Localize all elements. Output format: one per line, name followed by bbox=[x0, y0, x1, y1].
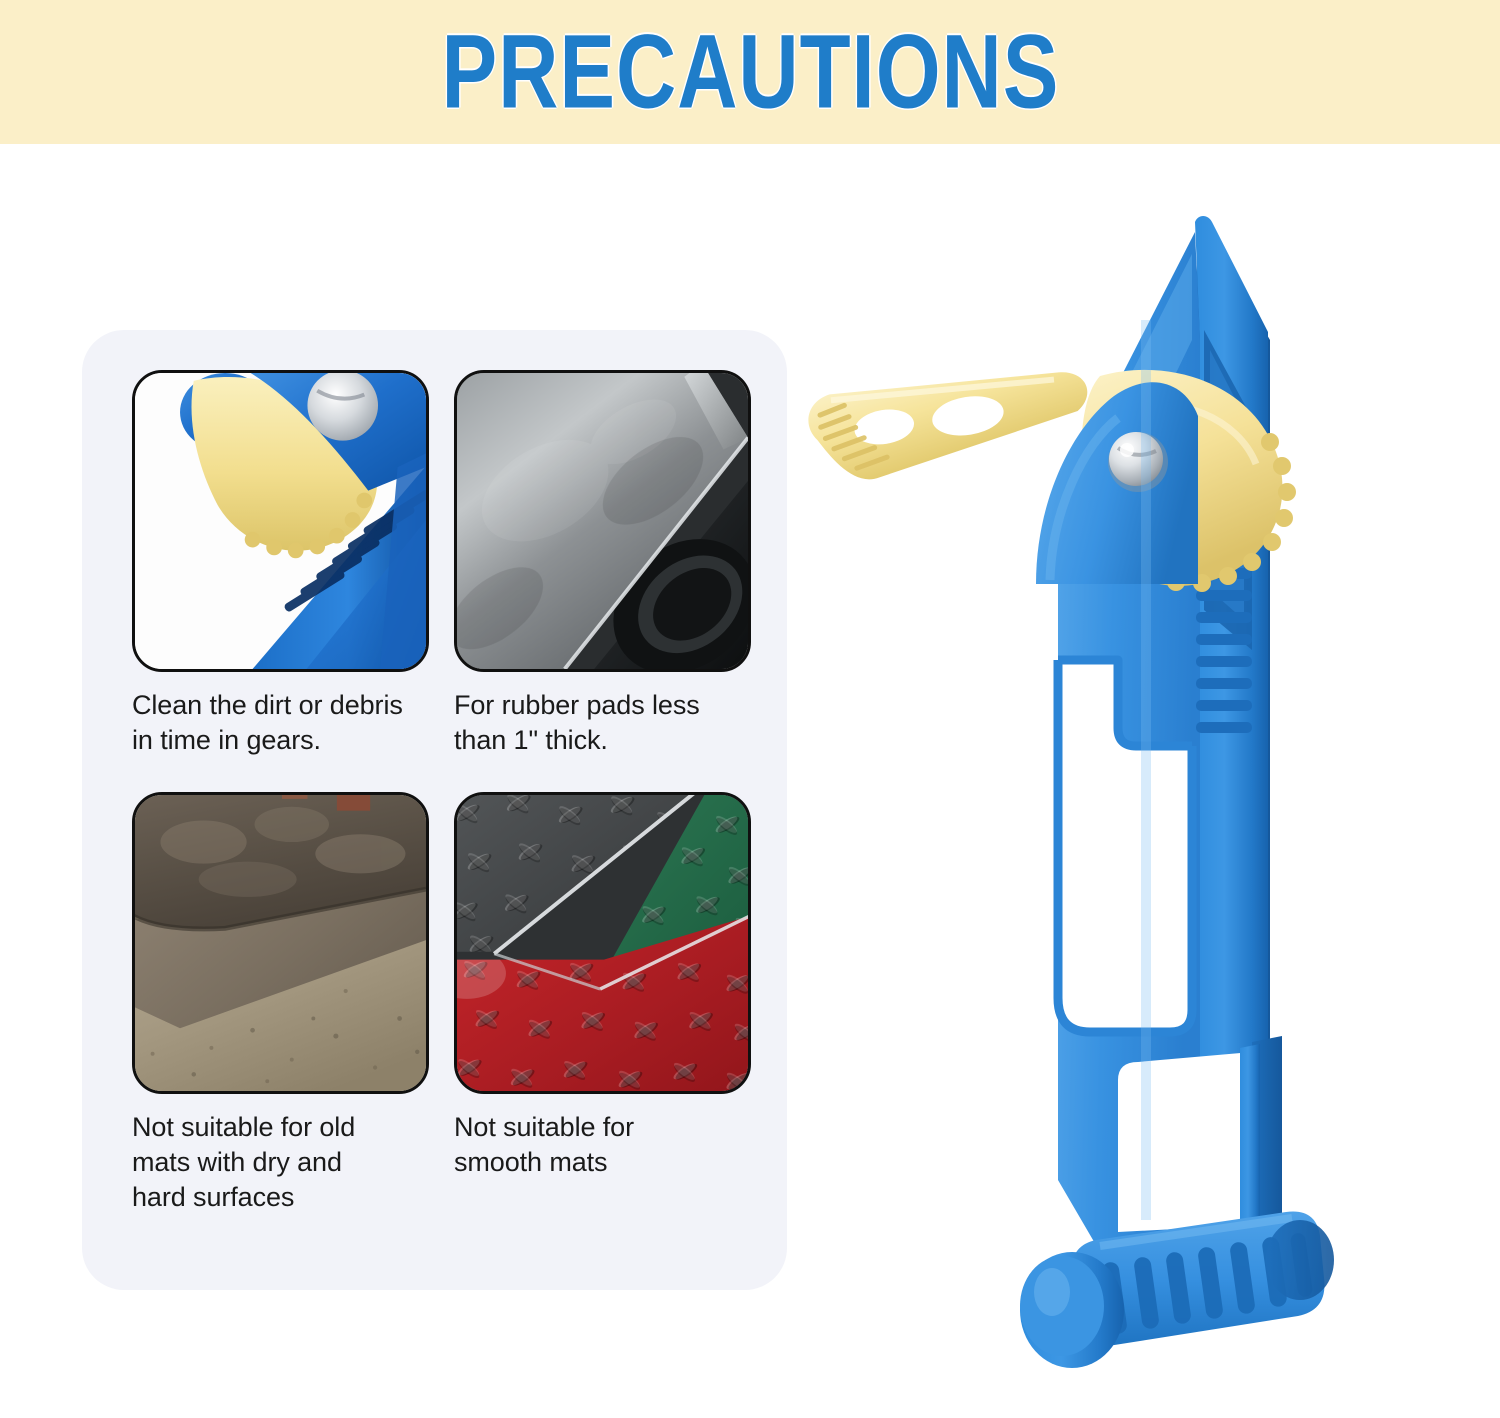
rubber-pad-roll-photo bbox=[454, 370, 751, 672]
precaution-row: Clean the dirt or debris in time in gear… bbox=[132, 370, 752, 758]
precaution-caption: For rubber pads less than 1" thick. bbox=[454, 688, 751, 758]
precaution-photo-grid: Clean the dirt or debris in time in gear… bbox=[132, 370, 752, 1215]
page-title: PRECAUTIONS bbox=[441, 20, 1059, 125]
precautions-card: Clean the dirt or debris in time in gear… bbox=[82, 330, 787, 1290]
mat-lifter-tool-image bbox=[800, 180, 1440, 1380]
smooth-diamond-mats-photo bbox=[454, 792, 751, 1094]
gear-closeup-photo bbox=[132, 370, 429, 672]
precaution-caption: Clean the dirt or debris in time in gear… bbox=[132, 688, 429, 758]
precaution-row: Not suitable for old mats with dry and h… bbox=[132, 792, 752, 1215]
precaution-caption: Not suitable for old mats with dry and h… bbox=[132, 1110, 429, 1215]
precaution-item: Not suitable for old mats with dry and h… bbox=[132, 792, 429, 1215]
precaution-item: Not suitable for smooth mats bbox=[454, 792, 751, 1215]
header-band: PRECAUTIONS bbox=[0, 0, 1500, 144]
precaution-item: Clean the dirt or debris in time in gear… bbox=[132, 370, 429, 758]
old-dry-mat-photo bbox=[132, 792, 429, 1094]
precaution-caption: Not suitable for smooth mats bbox=[454, 1110, 751, 1180]
precaution-item: For rubber pads less than 1" thick. bbox=[454, 370, 751, 758]
